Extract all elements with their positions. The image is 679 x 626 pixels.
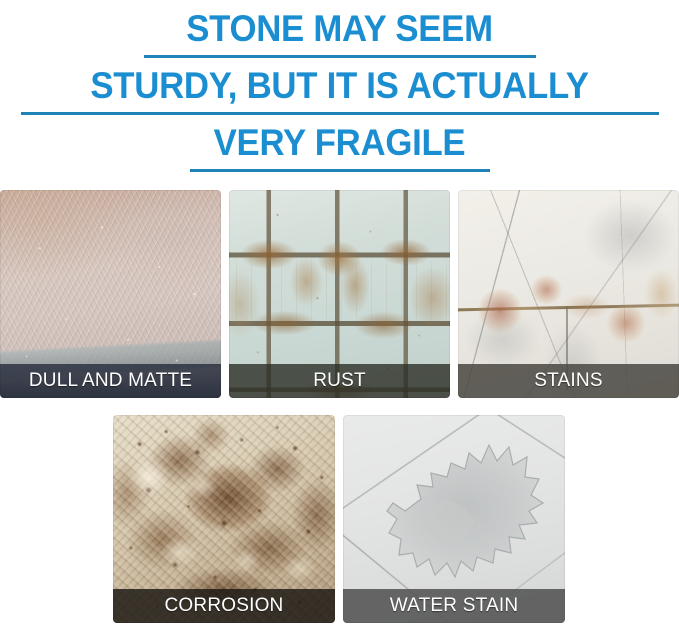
poster-root: STONE MAY SEEM STURDY, BUT IT IS ACTUALL… <box>0 0 679 626</box>
gallery-tile-corrosion: CORROSION <box>113 415 335 623</box>
headline-line-2: STURDY, BUT IT IS ACTUALLY <box>20 63 658 109</box>
caption-water-stain: WATER STAIN <box>343 589 565 623</box>
caption-rust: RUST <box>229 364 450 398</box>
gallery-tile-water-stain: WATER STAIN <box>343 415 565 623</box>
caption-corrosion: CORROSION <box>113 589 335 623</box>
gallery-bottom-row: CORROSION <box>113 415 566 623</box>
headline-underline-1 <box>144 55 536 58</box>
headline-underline-2 <box>21 112 659 115</box>
caption-stains: STAINS <box>458 364 679 398</box>
headline-line-3: VERY FRAGILE <box>20 120 658 166</box>
headline-block: STONE MAY SEEM STURDY, BUT IT IS ACTUALL… <box>0 0 679 177</box>
gallery-tile-dull-and-matte: DULL AND MATTE <box>0 190 221 398</box>
gallery-tile-stains: STAINS <box>458 190 679 398</box>
headline-underline-3 <box>190 169 490 172</box>
gallery-top-row: DULL AND MATTE RUST STAINS <box>0 190 679 398</box>
gallery-tile-rust: RUST <box>229 190 450 398</box>
caption-dull-and-matte: DULL AND MATTE <box>0 364 221 398</box>
headline-line-1: STONE MAY SEEM <box>20 6 658 52</box>
